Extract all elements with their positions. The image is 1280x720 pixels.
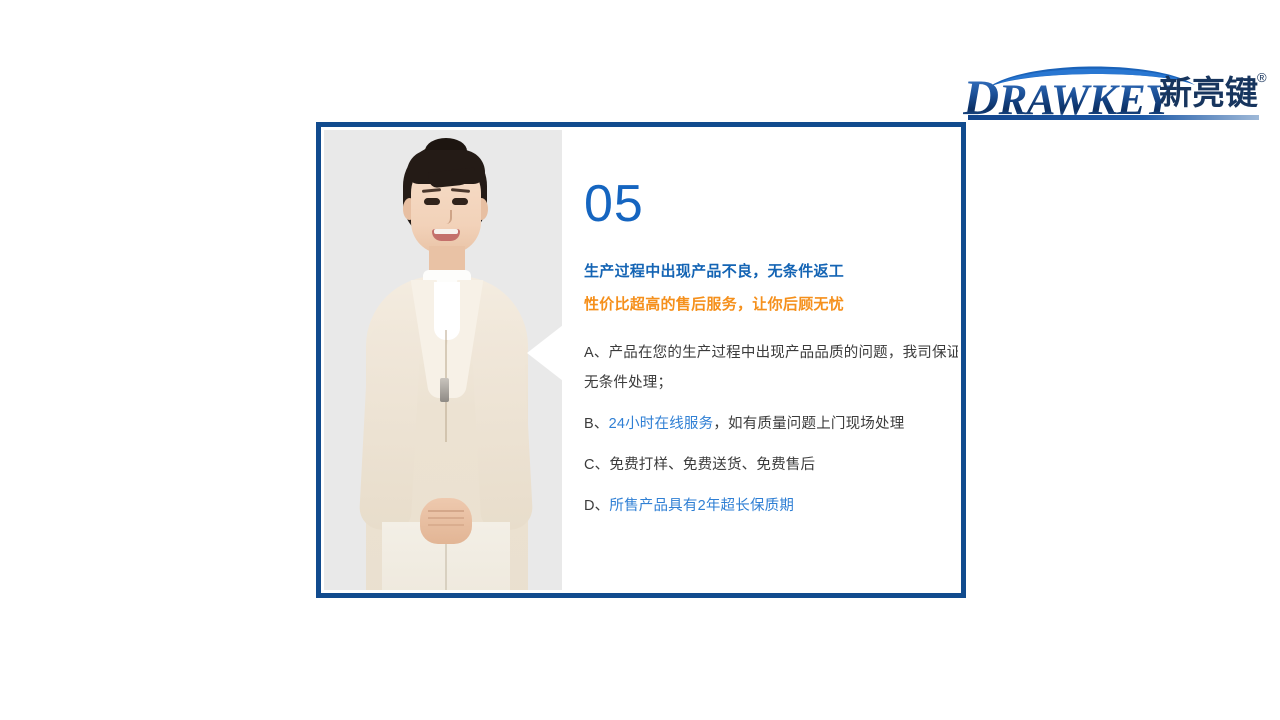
list-item: B、24小时在线服务，如有质量问题上门现场处理 bbox=[584, 409, 958, 439]
registered-trademark-icon: ® bbox=[1257, 70, 1267, 85]
list-item-marker: C、 bbox=[584, 457, 609, 473]
list-item-marker: B、 bbox=[584, 416, 609, 432]
card-content: 05 生产过程中出现产品不良，无条件返工 性价比超高的售后服务，让你后顾无忧 A… bbox=[576, 130, 958, 590]
list-item-pre: 产品在您的生产过程中出现产品品质的问题，我司保证无条件处理； bbox=[584, 345, 958, 391]
list-item-marker: D、 bbox=[584, 498, 609, 514]
arrow-notch-fill bbox=[562, 297, 576, 409]
logo-underline-bar bbox=[968, 115, 1259, 120]
arrow-notch-icon bbox=[527, 325, 563, 381]
section-number: 05 bbox=[584, 178, 644, 230]
list-item: D、所售产品具有2年超长保质期 bbox=[584, 491, 958, 521]
headline-primary: 生产过程中出现产品不良，无条件返工 bbox=[584, 260, 844, 281]
list-item-post: ，如有质量问题上门现场处理 bbox=[713, 416, 904, 432]
list-item-pre: 免费打样、免费送货、免费售后 bbox=[609, 457, 815, 473]
service-card: 05 生产过程中出现产品不良，无条件返工 性价比超高的售后服务，让你后顾无忧 A… bbox=[316, 122, 966, 598]
list-item: C、免费打样、免费送货、免费售后 bbox=[584, 450, 958, 480]
list-item-highlight: 24小时在线服务 bbox=[609, 416, 714, 432]
card-inner: 05 生产过程中出现产品不良，无条件返工 性价比超高的售后服务，让你后顾无忧 A… bbox=[324, 130, 958, 590]
service-list: A、产品在您的生产过程中出现产品品质的问题，我司保证无条件处理； B、24小时在… bbox=[584, 338, 958, 532]
list-item-highlight: 所售产品具有2年超长保质期 bbox=[609, 498, 794, 514]
headline-secondary: 性价比超高的售后服务，让你后顾无忧 bbox=[584, 293, 844, 314]
brand-logo: DRAWKEY 新亮键 ® bbox=[963, 58, 1263, 120]
logo-chinese-name: 新亮键 bbox=[1159, 76, 1258, 109]
list-item-marker: A、 bbox=[584, 345, 609, 361]
list-item: A、产品在您的生产过程中出现产品品质的问题，我司保证无条件处理； bbox=[584, 338, 958, 398]
